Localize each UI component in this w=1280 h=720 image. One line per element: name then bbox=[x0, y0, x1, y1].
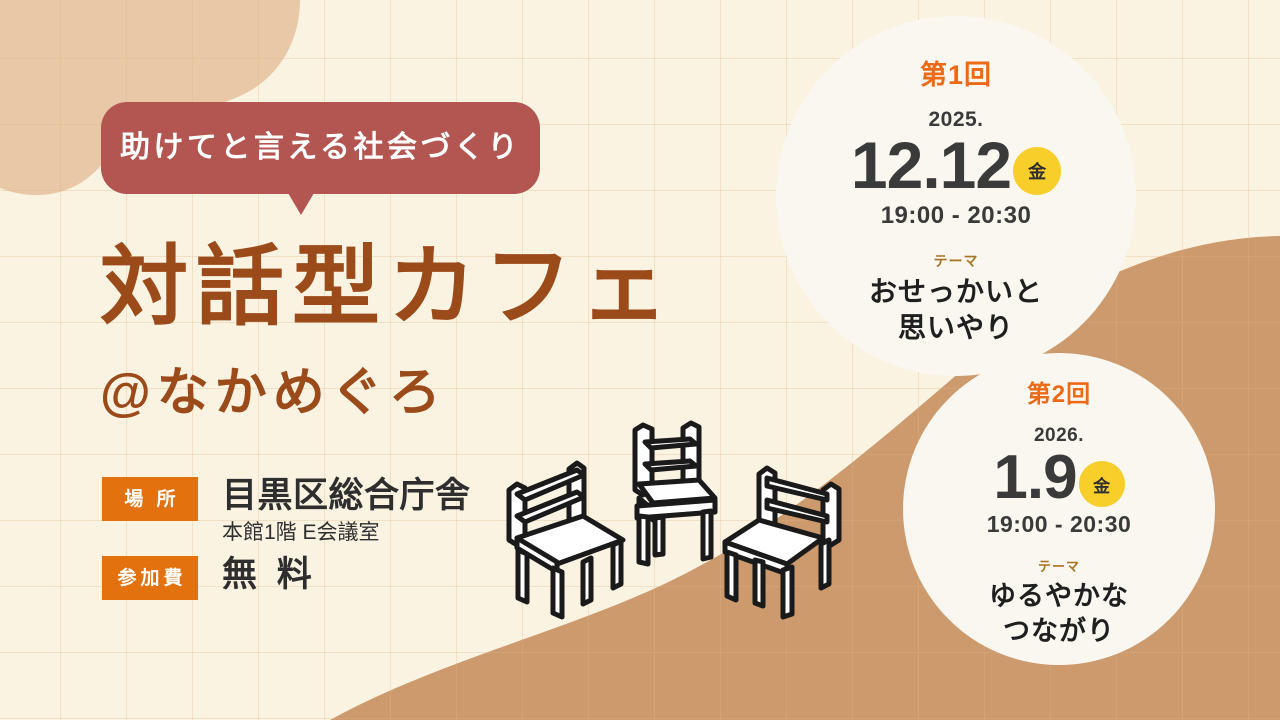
session-2-theme-line1: ゆるやかな bbox=[989, 579, 1129, 614]
session-2-theme-label: テーマ bbox=[1038, 560, 1080, 573]
session-1-weekday-badge: 金 bbox=[1013, 147, 1061, 195]
session-1-theme: おせっかいと 思いやり bbox=[869, 274, 1043, 346]
fee-badge-label: 参加費 bbox=[113, 569, 186, 588]
session-1-theme-line2: 思いやり bbox=[869, 310, 1043, 346]
place-badge: 場 所 bbox=[102, 477, 198, 521]
place-badge-label: 場 所 bbox=[120, 490, 179, 509]
fee-badge: 参加費 bbox=[102, 556, 198, 600]
three-chairs-illustration bbox=[487, 412, 857, 637]
place-value: 目黒区総合庁舎 bbox=[222, 477, 471, 515]
flyer-canvas: 助けてと言える社会づくり 対話型カフェ @なかめぐろ 場 所 目黒区総合庁舎 本… bbox=[0, 0, 1280, 720]
tagline-banner: 助けてと言える社会づくり bbox=[101, 102, 540, 194]
session-2-weekday-badge: 金 bbox=[1079, 461, 1125, 507]
session-1-theme-label: テーマ bbox=[934, 254, 979, 268]
chair-center bbox=[635, 423, 715, 564]
session-1-year: 2025. bbox=[928, 109, 983, 130]
tagline-banner-tail bbox=[288, 193, 314, 215]
session-card-2: 第2回 2026. 1.9 金 19:00 - 20:30 テーマ ゆるやかな … bbox=[903, 353, 1215, 665]
session-2-theme-line2: つながり bbox=[989, 614, 1129, 649]
session-1-theme-line1: おせっかいと bbox=[869, 274, 1043, 310]
session-2-theme: ゆるやかな つながり bbox=[989, 579, 1129, 648]
chair-left bbox=[509, 463, 623, 617]
chair-right bbox=[725, 468, 839, 617]
session-2-date-line: 1.9 金 bbox=[993, 447, 1124, 509]
place-note: 本館1階 E会議室 bbox=[222, 517, 471, 549]
fee-texts: 無 料 bbox=[222, 556, 317, 594]
page-subtitle-location: @なかめぐろ bbox=[100, 367, 447, 419]
session-1-number: 第1回 bbox=[920, 62, 992, 89]
info-row-fee: 参加費 無 料 bbox=[102, 556, 317, 600]
page-title: 対話型カフェ bbox=[100, 243, 676, 331]
session-card-1: 第1回 2025. 12.12 金 19:00 - 20:30 テーマ おせっか… bbox=[776, 16, 1136, 376]
session-2-number: 第2回 bbox=[1027, 383, 1091, 407]
tagline-text: 助けてと言える社会づくり bbox=[120, 133, 521, 163]
session-1-date-line: 12.12 金 bbox=[851, 132, 1061, 198]
info-row-place: 場 所 目黒区総合庁舎 本館1階 E会議室 bbox=[102, 477, 471, 548]
place-texts: 目黒区総合庁舎 本館1階 E会議室 bbox=[222, 477, 471, 548]
session-1-date: 12.12 bbox=[851, 132, 1011, 198]
session-2-time: 19:00 - 20:30 bbox=[987, 513, 1132, 536]
fee-value: 無 料 bbox=[222, 556, 317, 594]
session-1-time: 19:00 - 20:30 bbox=[881, 204, 1032, 228]
session-2-date: 1.9 bbox=[993, 447, 1076, 509]
